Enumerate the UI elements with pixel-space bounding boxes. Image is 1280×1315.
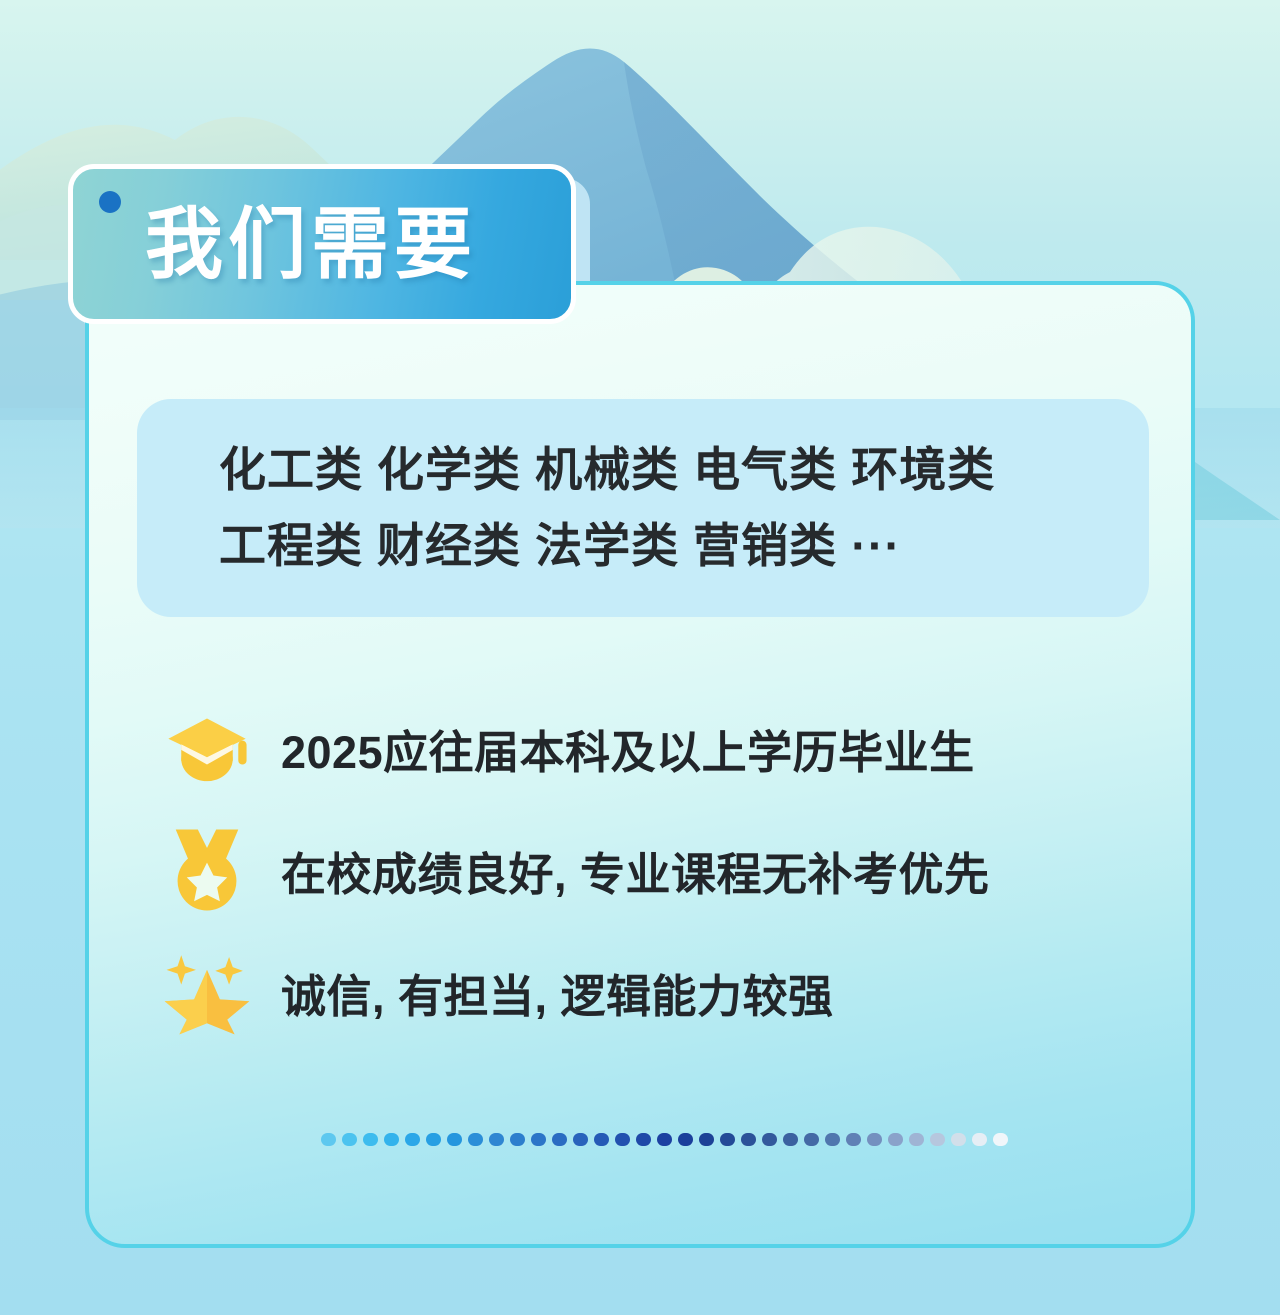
page-title: 我们需要 (145, 205, 477, 283)
divider-dash (510, 1133, 525, 1146)
divider-dash (699, 1133, 714, 1146)
requirement-row: 诚信, 有担当, 逻辑能力较强 (157, 931, 1157, 1053)
divider-dash (972, 1133, 987, 1146)
content-card: 化工类 化学类 机械类 电气类 环境类 工程类 财经类 法学类 营销类 ··· … (85, 281, 1195, 1248)
divider-dash (615, 1133, 630, 1146)
medal-icon (157, 820, 257, 920)
divider-dash (657, 1133, 672, 1146)
divider-dash (993, 1133, 1008, 1146)
divider-dash (405, 1133, 420, 1146)
divider-dash (636, 1133, 651, 1146)
divider-dash (951, 1133, 966, 1146)
divider-dash (552, 1133, 567, 1146)
requirement-row: 2025应往届本科及以上学历毕业生 (157, 687, 1157, 809)
divider-dash (804, 1133, 819, 1146)
recruitment-poster: 化工类 化学类 机械类 电气类 环境类 工程类 财经类 法学类 营销类 ··· … (0, 0, 1280, 1315)
divider-dash (363, 1133, 378, 1146)
sparkle-star-icon (157, 942, 257, 1042)
divider-dash (573, 1133, 588, 1146)
majors-box: 化工类 化学类 机械类 电气类 环境类 工程类 财经类 法学类 营销类 ··· (137, 399, 1149, 617)
divider-dash (741, 1133, 756, 1146)
divider-dash (720, 1133, 735, 1146)
divider-dash (489, 1133, 504, 1146)
majors-line-2: 工程类 财经类 法学类 营销类 ··· (219, 508, 1149, 584)
graduation-cap-icon (157, 698, 257, 798)
divider-dash (342, 1133, 357, 1146)
title-badge: 我们需要 (68, 164, 576, 324)
majors-line-1: 化工类 化学类 机械类 电气类 环境类 (219, 432, 1149, 508)
divider-dash (594, 1133, 609, 1146)
requirement-row: 在校成绩良好, 专业课程无补考优先 (157, 809, 1157, 931)
divider-dash (468, 1133, 483, 1146)
requirement-text: 诚信, 有担当, 逻辑能力较强 (281, 960, 834, 1025)
dashed-divider (321, 1130, 981, 1148)
requirements-list: 2025应往届本科及以上学历毕业生 在校成绩良好, 专业课程无补考优先 (157, 687, 1157, 1053)
badge-dot-icon (99, 191, 121, 213)
divider-dash (321, 1133, 336, 1146)
divider-dash (783, 1133, 798, 1146)
divider-dash (909, 1133, 924, 1146)
divider-dash (531, 1133, 546, 1146)
divider-dash (426, 1133, 441, 1146)
divider-dash (888, 1133, 903, 1146)
divider-dash (930, 1133, 945, 1146)
divider-dash (825, 1133, 840, 1146)
divider-dash (846, 1133, 861, 1146)
divider-dash (762, 1133, 777, 1146)
divider-dash (867, 1133, 882, 1146)
divider-dash (384, 1133, 399, 1146)
divider-dash (678, 1133, 693, 1146)
requirement-text: 2025应往届本科及以上学历毕业生 (281, 716, 975, 781)
divider-dash (447, 1133, 462, 1146)
requirement-text: 在校成绩良好, 专业课程无补考优先 (281, 838, 990, 903)
